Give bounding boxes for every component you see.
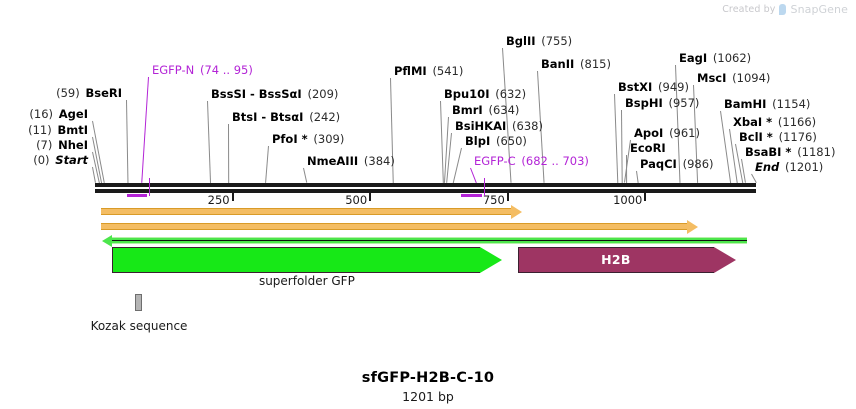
label-blpi-enzyme: BlpI: [465, 134, 490, 148]
label-blpi[interactable]: BlpI (650): [465, 135, 527, 147]
label-blpi-leader: [453, 148, 462, 183]
label-bpu10i[interactable]: Bpu10I (632): [444, 88, 526, 100]
label-bsphi-leader: [621, 110, 623, 183]
label-egfp-c-position: (682 .. 703): [516, 154, 589, 168]
label-bstxi-position: (949): [652, 80, 689, 94]
label-xbai-position: (1166): [772, 115, 816, 129]
kozak-sequence-marker[interactable]: [135, 294, 142, 311]
label-paqci-leader: [636, 171, 639, 183]
primer-egfp-n-bar[interactable]: [127, 194, 148, 197]
label-nmeaiii[interactable]: NmeAIII (384): [307, 155, 395, 167]
ruler-label-500: 500: [345, 193, 368, 207]
ruler-tick-1000: [644, 193, 646, 201]
label-banii-enzyme: BanII: [541, 57, 574, 71]
watermark-created-by: Created by: [722, 4, 775, 15]
label-paqci-enzyme: PaqCI: [640, 157, 677, 171]
label-bamhi-position: (1154): [766, 97, 810, 111]
orange-feature-bottom[interactable]: [101, 223, 687, 230]
label-agei-position: (16): [29, 107, 58, 121]
label-egfp-n-position: (74 .. 95): [194, 63, 253, 77]
label-bsssi-leader: [207, 101, 211, 183]
label-banii[interactable]: BanII (815): [541, 58, 611, 70]
snapgene-watermark: Created by SnapGene: [722, 3, 848, 16]
primer-egfp-c-stem: [484, 178, 485, 196]
label-bmri[interactable]: BmrI (634): [452, 104, 519, 116]
label-ecori-leader: [626, 155, 627, 183]
label-msci[interactable]: MscI (1094): [697, 72, 770, 84]
label-apoi-position: (961): [663, 126, 700, 140]
label-bmti-position: (11): [28, 123, 57, 137]
label-nhei-position: (7): [36, 138, 58, 152]
label-paqci[interactable]: PaqCI (986): [640, 158, 714, 170]
label-bmti[interactable]: (11) BmtI: [28, 124, 88, 136]
cds-superfolder-gfp-arrowhead-icon: [480, 247, 502, 273]
orange-feature-bottom-arrowhead-icon: [687, 220, 698, 234]
label-btsi-position: (242): [303, 110, 340, 124]
label-nmeaiii-leader: [303, 168, 307, 183]
label-eagi[interactable]: EagI (1062): [679, 52, 751, 64]
label-nmeaiii-enzyme: NmeAIII: [307, 154, 358, 168]
ruler-label-1000: 1000: [613, 193, 643, 207]
label-pfoi-position: (309): [308, 132, 345, 146]
label-nmeaiii-position: (384): [358, 154, 395, 168]
label-apoi-enzyme: ApoI: [634, 126, 663, 140]
cds-superfolder-gfp-body: [112, 247, 481, 273]
label-bsphi-enzyme: BspHI: [625, 96, 663, 110]
label-end-leader: [751, 174, 757, 183]
label-eagi-position: (1062): [707, 51, 751, 65]
orange-feature-top-arrowhead-icon: [511, 205, 522, 219]
label-bamhi-leader: [720, 111, 731, 183]
label-ecori[interactable]: EcoRI: [630, 142, 666, 154]
label-xbai[interactable]: XbaI * (1166): [733, 116, 816, 128]
label-paqci-position: (986): [677, 157, 714, 171]
label-pfoi[interactable]: PfoI * (309): [272, 133, 344, 145]
snapgene-logo-icon: [779, 4, 786, 15]
label-egfp-n-enzyme: EGFP-N: [152, 63, 194, 77]
label-msci-enzyme: MscI: [697, 71, 726, 85]
kozak-sequence-label: Kozak sequence: [91, 319, 188, 333]
primer-egfp-c-bar[interactable]: [461, 194, 482, 197]
label-btsi-enzyme: BtsI - BtsαI: [232, 110, 303, 124]
label-end-position: (1201): [779, 160, 823, 174]
ruler-label-750: 750: [483, 193, 506, 207]
label-egfp-n-leader: [141, 77, 149, 183]
label-pflmi-enzyme: PflMI: [394, 64, 427, 78]
label-bpu10i-enzyme: Bpu10I: [444, 87, 489, 101]
label-agei-enzyme: AgeI: [59, 107, 88, 121]
label-bamhi-enzyme: BamHI: [724, 97, 766, 111]
label-bsabi-position: (1181): [791, 145, 835, 159]
orange-feature-top[interactable]: [101, 208, 511, 215]
label-start-enzyme: Start: [55, 153, 88, 167]
ruler-tick-750: [507, 193, 509, 201]
plasmid-name: sfGFP-H2B-C-10: [0, 370, 856, 386]
label-bsihkai-position: (638): [506, 119, 543, 133]
label-bsihkai-enzyme: BsiHKAI: [455, 119, 506, 133]
label-bmti-enzyme: BmtI: [57, 123, 88, 137]
label-bsphi-position: (957): [663, 96, 700, 110]
label-bsphi[interactable]: BspHI (957): [625, 97, 699, 109]
plasmid-length: 1201 bp: [0, 389, 856, 404]
green-reverse-feature[interactable]: [109, 237, 748, 244]
label-bsabi[interactable]: BsaBI * (1181): [745, 146, 835, 158]
cds-h2b-arrowhead-icon: [714, 247, 736, 273]
label-eagi-enzyme: EagI: [679, 51, 707, 65]
label-bstxi[interactable]: BstXI (949): [618, 81, 689, 93]
label-start[interactable]: (0) Start: [33, 154, 88, 166]
label-apoi[interactable]: ApoI (961): [634, 127, 700, 139]
label-bmri-enzyme: BmrI: [452, 103, 483, 117]
label-bmri-position: (634): [483, 103, 520, 117]
cds-h2b-label: H2B: [518, 252, 714, 267]
label-egfp-c-leader: [470, 168, 477, 183]
label-bcli[interactable]: BclI * (1176): [739, 131, 817, 143]
label-btsi[interactable]: BtsI - BtsαI (242): [232, 111, 340, 123]
label-bsabi-enzyme: BsaBI *: [745, 145, 791, 159]
label-bstxi-leader: [614, 94, 618, 183]
green-feature-arrowhead-icon: [102, 235, 112, 247]
label-egfp-c-enzyme: EGFP-C: [474, 154, 516, 168]
sequence-backbone-bottom-strand: [95, 189, 756, 193]
label-end-enzyme: End: [755, 160, 779, 174]
label-bglii[interactable]: BglII (755): [506, 35, 572, 47]
label-bsihkai[interactable]: BsiHKAI (638): [455, 120, 543, 132]
label-agei[interactable]: (16) AgeI: [29, 108, 88, 120]
label-bsssi-position: (209): [302, 87, 339, 101]
label-pfoi-enzyme: PfoI *: [272, 132, 308, 146]
ruler-label-250: 250: [208, 193, 231, 207]
label-bamhi[interactable]: BamHI (1154): [724, 98, 810, 110]
label-pflmi[interactable]: PflMI (541): [394, 65, 463, 77]
label-bglii-position: (755): [536, 34, 573, 48]
label-msci-position: (1094): [726, 71, 770, 85]
label-banii-position: (815): [574, 57, 611, 71]
label-egfp-c[interactable]: EGFP-C (682 .. 703): [474, 155, 589, 167]
label-nhei-enzyme: NheI: [58, 138, 88, 152]
label-start-position: (0): [33, 153, 55, 167]
ruler-tick-500: [369, 193, 371, 201]
primer-egfp-n-stem: [149, 178, 150, 196]
label-egfp-n[interactable]: EGFP-N (74 .. 95): [152, 64, 253, 76]
label-bseri-leader: [126, 100, 128, 183]
label-bseri-position: (59): [56, 86, 85, 100]
label-nhei[interactable]: (7) NheI: [36, 139, 88, 151]
label-end[interactable]: End (1201): [755, 161, 823, 173]
watermark-brand: SnapGene: [790, 3, 848, 16]
label-bcli-enzyme: BclI *: [739, 130, 773, 144]
label-bseri-enzyme: BseRI: [85, 86, 122, 100]
label-bseri[interactable]: (59) BseRI: [56, 87, 122, 99]
label-btsi-leader: [228, 124, 229, 183]
green-feature-center-line: [109, 240, 748, 241]
cds-h2b[interactable]: H2B: [518, 247, 736, 273]
label-xbai-enzyme: XbaI *: [733, 115, 772, 129]
label-bsssi[interactable]: BssSI - BssSαI (209): [211, 88, 338, 100]
label-ecori-enzyme: EcoRI: [630, 141, 666, 155]
label-bglii-enzyme: BglII: [506, 34, 536, 48]
label-blpi-position: (650): [490, 134, 527, 148]
label-bstxi-enzyme: BstXI: [618, 80, 652, 94]
ruler-tick-250: [232, 193, 234, 201]
label-bpu10i-position: (632): [489, 87, 526, 101]
label-bcli-position: (1176): [773, 130, 817, 144]
sequence-backbone-top-strand: [95, 183, 756, 187]
label-pflmi-position: (541): [427, 64, 464, 78]
cds-superfolder-gfp-caption: superfolder GFP: [259, 274, 355, 288]
label-pfoi-leader: [265, 146, 269, 183]
cds-superfolder-gfp[interactable]: [112, 247, 503, 273]
label-bpu10i-leader: [440, 101, 444, 183]
snapgene-map-canvas: Created by SnapGene (0) Start(7) NheI(11…: [0, 0, 856, 409]
label-bsssi-enzyme: BssSI - BssSαI: [211, 87, 302, 101]
